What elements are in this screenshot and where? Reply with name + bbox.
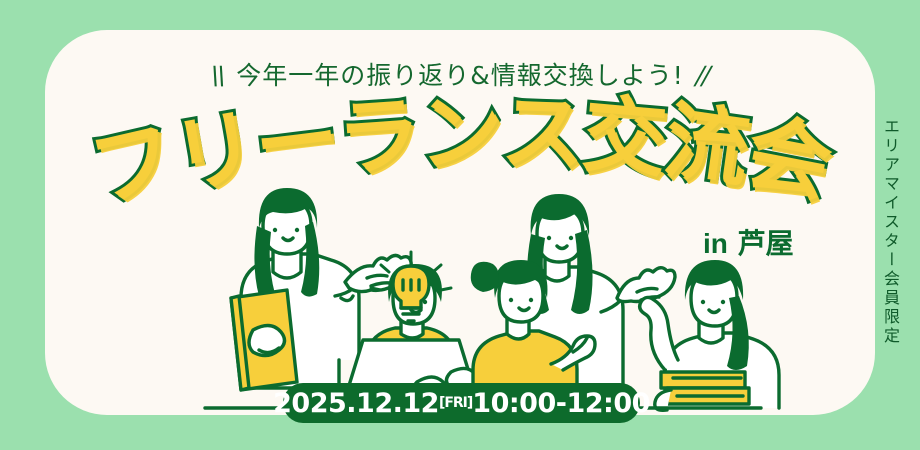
main-title: フ リ ー ラ ン ス 交 流 会 [0,96,920,216]
title-char-0: フ [83,114,182,214]
tagline-left-slash: \\ [208,61,228,90]
title-char-7: 流 [660,98,753,193]
tagline-right-slash: // [692,61,712,90]
event-time: 10:00-12:00 [472,388,650,419]
event-date: 2025.12.12 [273,388,439,419]
title-char-3: ラ [334,92,422,182]
location-label: in 芦屋 [703,222,794,262]
membership-note: エリアマイスター会員限定 [878,118,902,346]
location-city: 芦屋 [738,227,794,260]
title-char-8: 会 [740,109,837,207]
date-time-badge: 2025.12.12[FRI]10:00-12:00 [283,383,640,423]
title-char-4: ン [418,90,501,175]
event-day-of-week: [FRI] [439,395,472,411]
location-prefix: in [703,228,728,259]
title-char-5: ス [500,90,585,177]
title-char-6: 交 [580,92,669,183]
title-char-1: リ [166,104,261,201]
poster-canvas: \\今年一年の振り返り&情報交換しよう!// フ リ ー ラ ン ス 交 流 会… [0,0,920,450]
title-char-2: ー [250,96,342,189]
